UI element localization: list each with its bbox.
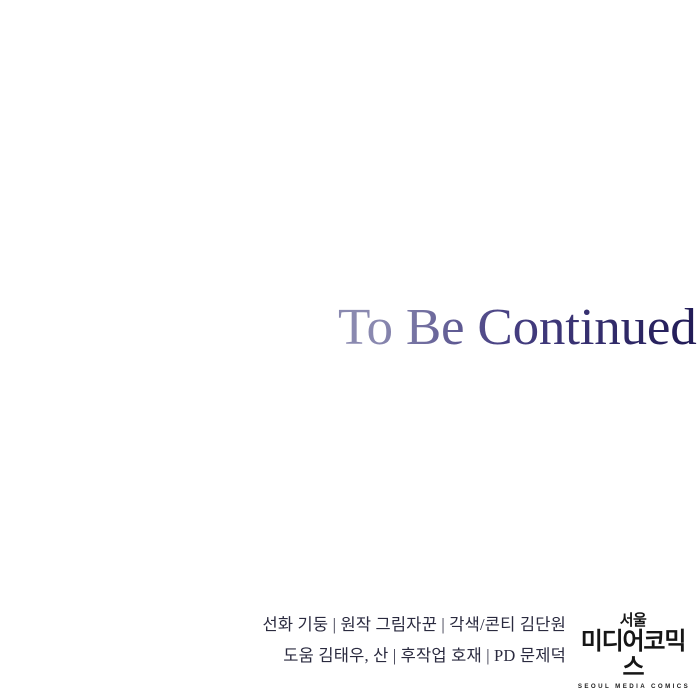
- to-be-continued-banner: To Be Continued: [338, 292, 700, 354]
- logo-media-comics-text: 미디어코믹스: [572, 629, 694, 681]
- logo-seoul-text: 서울: [572, 612, 694, 629]
- credits-block: 선화 기둥 | 원작 그림자꾼 | 각색/콘티 김단원 도움 김태우, 산 | …: [0, 609, 566, 671]
- publisher-logo: 서울 미디어코믹스 SEOUL MEDIA COMICS: [572, 612, 694, 691]
- credits-line-2: 도움 김태우, 산 | 후작업 호재 | PD 문제덕: [0, 640, 566, 671]
- credits-line-1: 선화 기둥 | 원작 그림자꾼 | 각색/콘티 김단원: [0, 609, 566, 640]
- logo-latin-subtitle: SEOUL MEDIA COMICS: [572, 682, 694, 691]
- to-be-continued-text: To Be Continued: [338, 302, 697, 354]
- end-card-canvas: To Be Continued 선화 기둥 | 원작 그림자꾼 | 각색/콘티 …: [0, 0, 700, 696]
